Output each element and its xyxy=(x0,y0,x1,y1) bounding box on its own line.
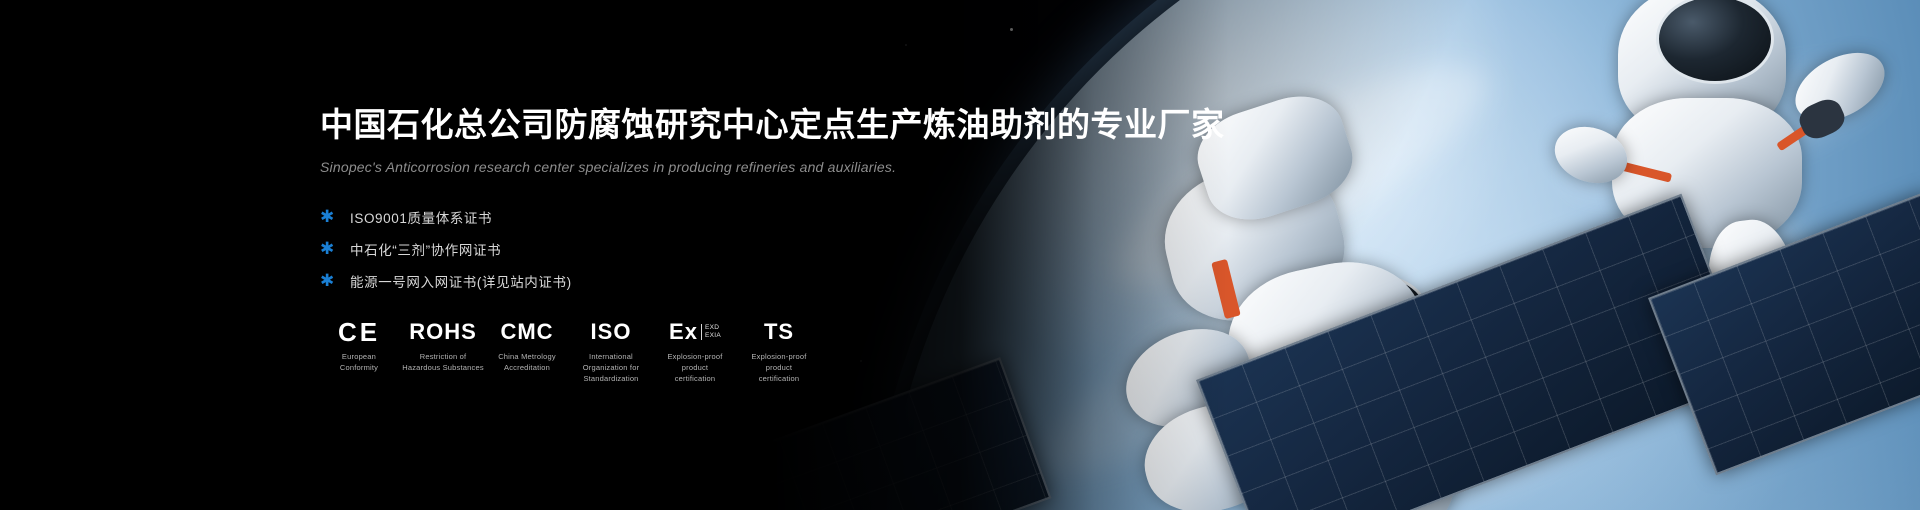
ex-mark-icon: Ex EXD EXIA xyxy=(653,317,737,347)
certification-badge-rohs: ROHS Restriction of Hazardous Substances xyxy=(401,317,485,374)
ex-mark-label: Ex xyxy=(669,318,698,346)
ex-code-line: EXD xyxy=(705,324,721,332)
asterisk-bullet-icon: ✱ xyxy=(320,208,350,225)
caption-line: Explosion-proof xyxy=(737,352,821,363)
list-item: ✱ 能源一号网入网证书(详见站内证书) xyxy=(320,267,1080,295)
page-subtitle: Sinopec's Anticorrosion research center … xyxy=(320,159,1080,175)
list-item-label: ISO9001质量体系证书 xyxy=(350,207,492,227)
banner-content: 中国石化总公司防腐蚀研究中心定点生产炼油助剂的专业厂家 Sinopec's An… xyxy=(320,104,1080,385)
certification-badge-ex: Ex EXD EXIA Explosion-proof product cert… xyxy=(653,317,737,385)
caption-line: International xyxy=(569,352,653,363)
caption-line: Accreditation xyxy=(485,363,569,374)
asterisk-bullet-icon: ✱ xyxy=(320,272,350,289)
certification-badge-ce: CE European Conformity xyxy=(317,317,401,374)
caption-line: Explosion-proof xyxy=(653,352,737,363)
asterisk-bullet-icon: ✱ xyxy=(320,240,350,257)
list-item-label: 中石化“三剂”协作网证书 xyxy=(350,239,501,259)
iso-mark-icon: ISO xyxy=(569,317,653,347)
ex-mark-subcodes: EXD EXIA xyxy=(701,324,721,340)
list-item: ✱ 中石化“三剂”协作网证书 xyxy=(320,235,1080,263)
caption-line: Organization for xyxy=(569,363,653,374)
certification-caption: Restriction of Hazardous Substances xyxy=(401,352,485,374)
certification-caption: International Organization for Standardi… xyxy=(569,352,653,385)
caption-line: certification xyxy=(653,374,737,385)
certification-caption: European Conformity xyxy=(317,352,401,374)
ex-code-line: EXIA xyxy=(705,332,721,340)
ts-mark-icon: TS xyxy=(737,317,821,347)
caption-line: Restriction of xyxy=(401,352,485,363)
certification-badge-cmc: CMC China Metrology Accreditation xyxy=(485,317,569,374)
page-title: 中国石化总公司防腐蚀研究中心定点生产炼油助剂的专业厂家 xyxy=(320,104,1080,147)
caption-line: European xyxy=(317,352,401,363)
list-item: ✱ ISO9001质量体系证书 xyxy=(320,203,1080,231)
certification-caption: China Metrology Accreditation xyxy=(485,352,569,374)
certification-badge-ts: TS Explosion-proof product certification xyxy=(737,317,821,385)
certification-caption: Explosion-proof product certification xyxy=(653,352,737,385)
caption-line: Conformity xyxy=(317,363,401,374)
certificate-list: ✱ ISO9001质量体系证书 ✱ 中石化“三剂”协作网证书 ✱ 能源一号网入网… xyxy=(320,203,1080,295)
rohs-mark-icon: ROHS xyxy=(401,317,485,347)
caption-line: Standardization xyxy=(569,374,653,385)
certification-badge-iso: ISO International Organization for Stand… xyxy=(569,317,653,385)
caption-line: product xyxy=(653,363,737,374)
caption-line: China Metrology xyxy=(485,352,569,363)
caption-line: Hazardous Substances xyxy=(401,363,485,374)
ce-mark-icon: CE xyxy=(317,317,401,347)
caption-line: product xyxy=(737,363,821,374)
list-item-label: 能源一号网入网证书(详见站内证书) xyxy=(350,271,572,291)
cmc-mark-icon: CMC xyxy=(485,317,569,347)
hero-banner: 中国石化总公司防腐蚀研究中心定点生产炼油助剂的专业厂家 Sinopec's An… xyxy=(0,0,1920,510)
caption-line: certification xyxy=(737,374,821,385)
certification-badge-row: CE European Conformity ROHS Restriction … xyxy=(317,317,1080,385)
certification-caption: Explosion-proof product certification xyxy=(737,352,821,385)
